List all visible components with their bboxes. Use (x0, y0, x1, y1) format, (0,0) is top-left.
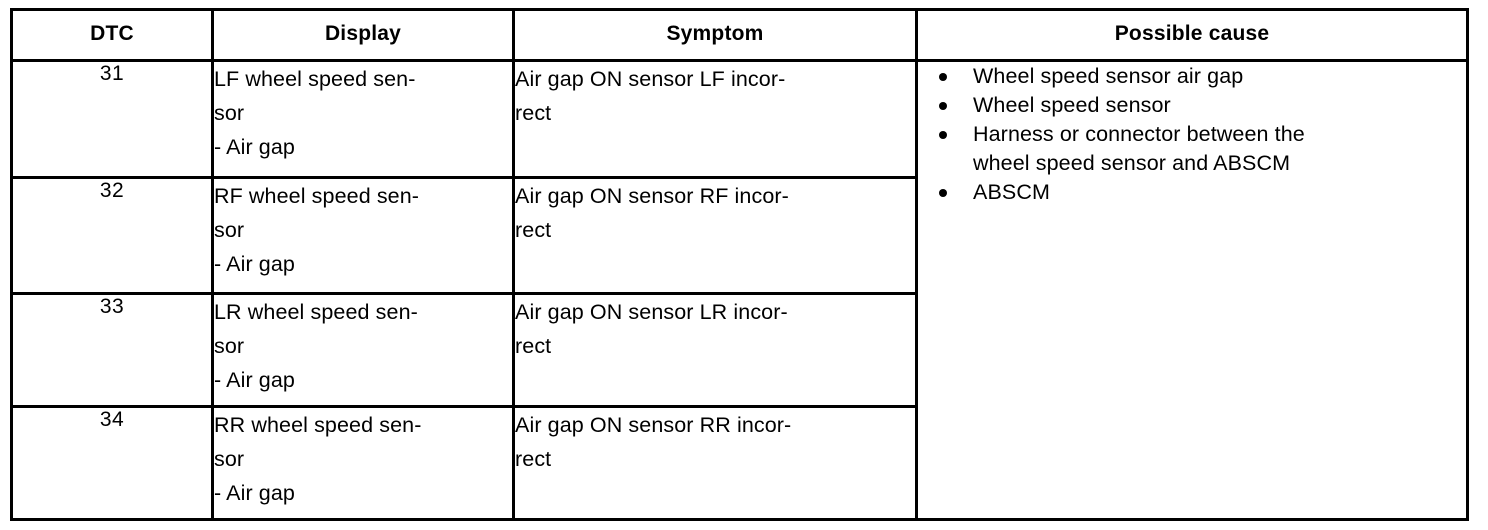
cell-dtc-code: 33 (12, 293, 213, 407)
display-line-3: - Air gap (214, 247, 512, 281)
cell-symptom-text: Air gap ON sensor RR incor- rect (514, 407, 917, 520)
display-line-1: RF wheel speed sen- (214, 179, 512, 213)
symptom-line-2: rect (515, 213, 915, 247)
column-header-dtc: DTC (12, 10, 213, 61)
cell-dtc-code: 31 (12, 61, 213, 178)
display-line-2: sor (214, 213, 512, 247)
table-row: 31 LF wheel speed sen- sor - Air gap Air… (12, 61, 1468, 178)
bullet-icon (939, 189, 947, 197)
cause-line-2: wheel speed sensor and ABSCM (973, 149, 1466, 178)
symptom-line-2: rect (515, 96, 915, 130)
column-header-symptom: Symptom (514, 10, 917, 61)
cell-symptom-text: Air gap ON sensor RF incor- rect (514, 177, 917, 293)
symptom-line-2: rect (515, 442, 915, 476)
display-line-1: LF wheel speed sen- (214, 62, 512, 96)
display-line-2: sor (214, 96, 512, 130)
bullet-icon (939, 73, 947, 81)
display-line-2: sor (214, 442, 512, 476)
symptom-line-1: Air gap ON sensor RR incor- (515, 408, 915, 442)
table-header-row: DTC Display Symptom Possible cause (12, 10, 1468, 61)
symptom-line-1: Air gap ON sensor LR incor- (515, 295, 915, 329)
cell-display-text: LF wheel speed sen- sor - Air gap (213, 61, 514, 178)
cell-display-text: LR wheel speed sen- sor - Air gap (213, 293, 514, 407)
display-line-3: - Air gap (214, 476, 512, 510)
cell-possible-cause: Wheel speed sensor air gap Wheel speed s… (917, 61, 1468, 520)
cause-line-1: Wheel speed sensor (973, 91, 1466, 120)
cause-line-1: Harness or connector between the (973, 120, 1466, 149)
cell-display-text: RR wheel speed sen- sor - Air gap (213, 407, 514, 520)
display-line-3: - Air gap (214, 130, 512, 164)
dtc-diagnostic-table: DTC Display Symptom Possible cause 31 LF… (10, 8, 1469, 521)
display-line-3: - Air gap (214, 363, 512, 397)
bullet-icon (939, 102, 947, 110)
document-page: DTC Display Symptom Possible cause 31 LF… (0, 0, 1488, 530)
display-line-1: LR wheel speed sen- (214, 295, 512, 329)
possible-cause-list: Wheel speed sensor air gap Wheel speed s… (918, 62, 1466, 207)
cell-dtc-code: 32 (12, 177, 213, 293)
display-line-2: sor (214, 329, 512, 363)
symptom-line-2: rect (515, 329, 915, 363)
cell-display-text: RF wheel speed sen- sor - Air gap (213, 177, 514, 293)
column-header-possible-cause: Possible cause (917, 10, 1468, 61)
cell-symptom-text: Air gap ON sensor LF incor- rect (514, 61, 917, 178)
column-header-display: Display (213, 10, 514, 61)
list-item: Wheel speed sensor (918, 91, 1466, 120)
symptom-line-1: Air gap ON sensor LF incor- (515, 62, 915, 96)
list-item: Wheel speed sensor air gap (918, 62, 1466, 91)
cause-line-1: ABSCM (973, 178, 1466, 207)
cell-symptom-text: Air gap ON sensor LR incor- rect (514, 293, 917, 407)
cell-dtc-code: 34 (12, 407, 213, 520)
symptom-line-1: Air gap ON sensor RF incor- (515, 179, 915, 213)
display-line-1: RR wheel speed sen- (214, 408, 512, 442)
list-item: ABSCM (918, 178, 1466, 207)
cause-line-1: Wheel speed sensor air gap (973, 62, 1466, 91)
bullet-icon (939, 131, 947, 139)
list-item: Harness or connector between the wheel s… (918, 120, 1466, 178)
